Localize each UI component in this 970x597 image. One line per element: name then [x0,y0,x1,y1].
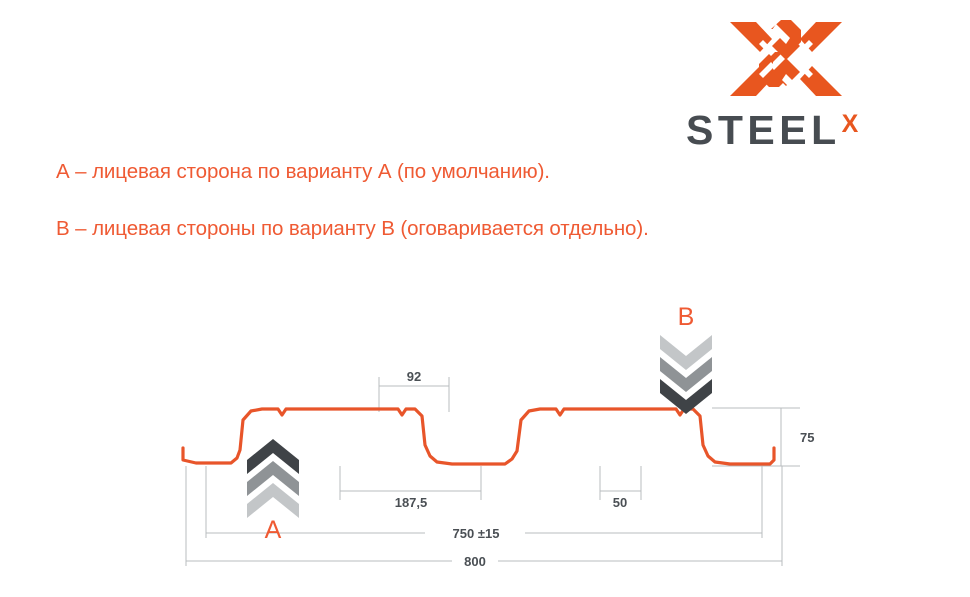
marker-b-label: B [678,303,695,331]
chevron-up-icon [247,439,299,518]
steelx-x-monogram-icon [730,18,842,100]
brand-wordmark: STEEL X [686,110,904,150]
wordmark-steel: STEEL [686,110,841,150]
dimension-label-50: 50 [613,495,627,510]
sheet-profile-outline [183,409,774,464]
wordmark-superscript-x: X [842,112,859,137]
marker-a: A [247,439,299,544]
dimension-label-750: 750 ±15 [453,526,500,541]
caption-variant-a: А – лицевая сторона по варианту А (по ум… [56,160,550,184]
dimension-label-75: 75 [800,430,814,445]
chevron-down-icon [660,335,712,414]
profile-technical-drawing: A B 92 187,5 50 750 ±15 800 75 [0,290,970,590]
marker-a-label: A [265,516,282,544]
marker-b: B [660,303,712,414]
caption-variant-b: В – лицевая стороны по варианту В (огова… [56,217,649,241]
brand-logo: STEEL X [686,18,904,146]
dimension-label-92: 92 [407,369,421,384]
dimension-label-800: 800 [464,554,486,569]
dimension-label-187-5: 187,5 [395,495,428,510]
